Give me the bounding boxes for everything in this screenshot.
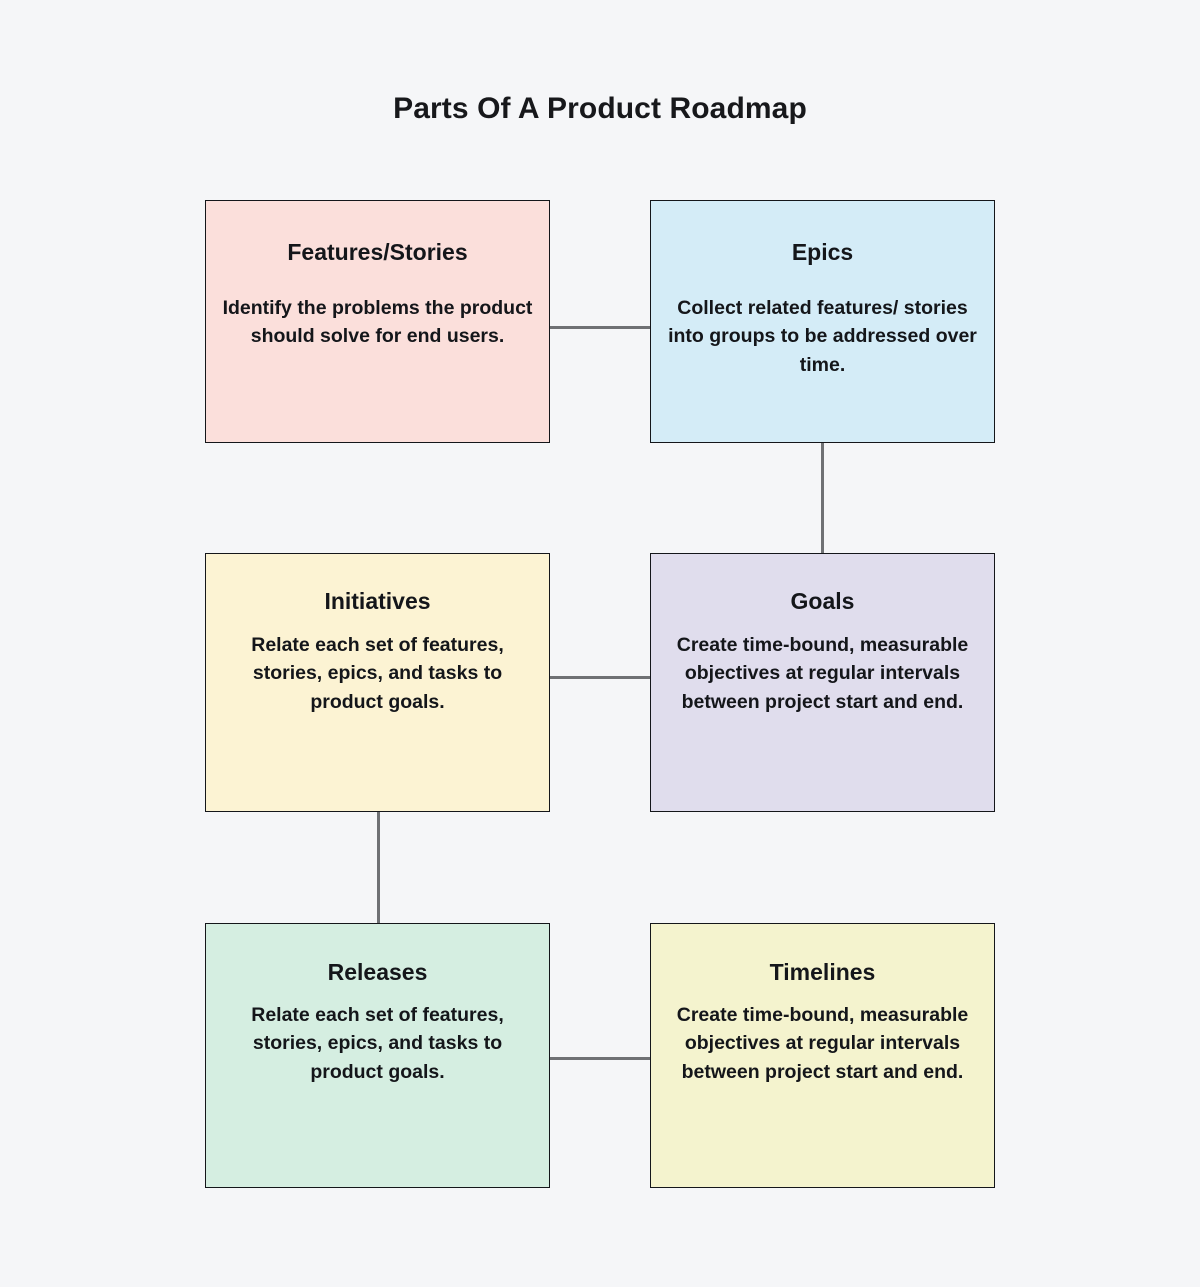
- node-description: Identify the problems the product should…: [206, 294, 549, 351]
- node-description: Create time-bound, measurable objectives…: [651, 631, 994, 717]
- node-description: Create time-bound, measurable objectives…: [651, 1001, 994, 1087]
- node-epics[interactable]: Epics Collect related features/ stories …: [650, 200, 995, 443]
- node-description: Relate each set of features, stories, ep…: [206, 1001, 549, 1087]
- diagram-canvas: Parts Of A Product Roadmap Features/Stor…: [0, 0, 1200, 1287]
- page-title: Parts Of A Product Roadmap: [0, 92, 1200, 126]
- node-timelines[interactable]: Timelines Create time-bound, measurable …: [650, 923, 995, 1188]
- node-title: Goals: [791, 588, 855, 616]
- node-features-stories[interactable]: Features/Stories Identify the problems t…: [205, 200, 550, 443]
- connector-releases-to-timelines: [549, 1057, 652, 1060]
- node-initiatives[interactable]: Initiatives Relate each set of features,…: [205, 553, 550, 812]
- connector-epics-to-goals: [821, 441, 824, 555]
- node-title: Timelines: [770, 959, 876, 987]
- connector-initiatives-to-goals: [549, 676, 652, 679]
- node-title: Releases: [328, 959, 428, 987]
- node-title: Initiatives: [324, 588, 430, 616]
- node-goals[interactable]: Goals Create time-bound, measurable obje…: [650, 553, 995, 812]
- connector-features-to-epics: [549, 326, 652, 329]
- node-description: Collect related features/ stories into g…: [651, 294, 994, 380]
- node-title: Epics: [792, 239, 853, 267]
- node-releases[interactable]: Releases Relate each set of features, st…: [205, 923, 550, 1188]
- connector-initiatives-to-releases: [377, 810, 380, 925]
- node-description: Relate each set of features, stories, ep…: [206, 631, 549, 717]
- node-title: Features/Stories: [287, 239, 467, 267]
